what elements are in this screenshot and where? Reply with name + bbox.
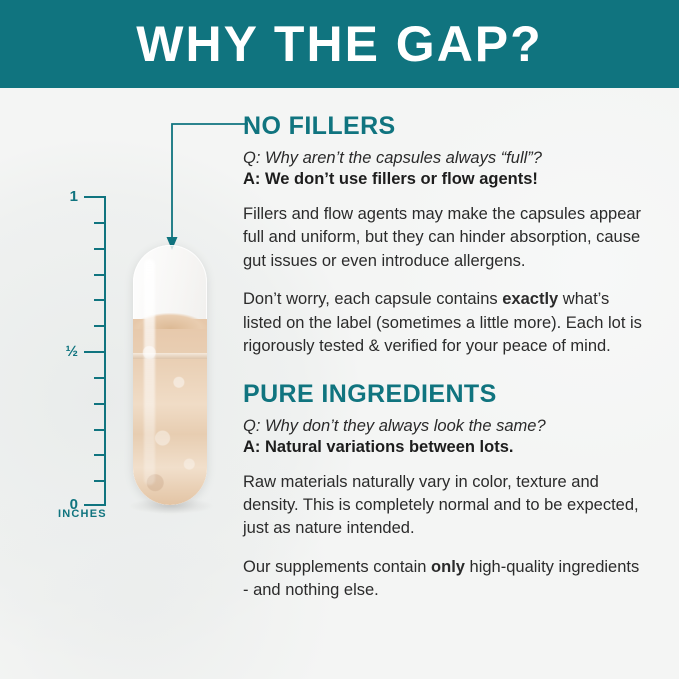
- capsule-image: [133, 245, 207, 505]
- paragraph-pure-ingredients-2-pre: Our supplements contain: [243, 558, 431, 576]
- paragraph-no-fillers-2-pre: Don’t worry, each capsule contains: [243, 290, 502, 308]
- capsule-gloss-highlight: [144, 259, 155, 485]
- content-column: NO FILLERS Q: Why aren’t the capsules al…: [243, 112, 648, 618]
- question-pure-ingredients: Q: Why don’t they always look the same?: [243, 417, 648, 436]
- paragraph-no-fillers-2-emphasis: exactly: [502, 290, 558, 308]
- ruler-tick-minor: [94, 248, 106, 250]
- paragraph-no-fillers-1: Fillers and flow agents may make the cap…: [243, 203, 648, 273]
- ruler-tick-minor: [94, 454, 106, 456]
- paragraph-pure-ingredients-2-emphasis: only: [431, 558, 465, 576]
- page-title: WHY THE GAP?: [0, 0, 679, 88]
- ruler-label-half: ½: [65, 344, 78, 359]
- ruler-tick-minor: [94, 377, 106, 379]
- section-heading-no-fillers: NO FILLERS: [243, 112, 648, 141]
- question-no-fillers: Q: Why aren’t the capsules always “full”…: [243, 149, 648, 168]
- ruler-tick-minor: [94, 299, 106, 301]
- paragraph-no-fillers-2: Don’t worry, each capsule contains exact…: [243, 288, 648, 358]
- capsule-body: [133, 245, 207, 505]
- ruler-scale: 1 ½ 0 INCHES: [58, 196, 118, 506]
- pointer-arrow-icon: [160, 120, 250, 255]
- infographic-page: WHY THE GAP? 1 ½ 0 INCHES: [0, 0, 679, 679]
- header-banner: WHY THE GAP?: [0, 0, 679, 88]
- answer-no-fillers: A: We don’t use fillers or flow agents!: [243, 170, 648, 189]
- section-heading-pure-ingredients: PURE INGREDIENTS: [243, 380, 648, 409]
- ruler-tick-major: [84, 351, 106, 353]
- ruler-tick-minor: [94, 222, 106, 224]
- ruler-tick-minor: [94, 480, 106, 482]
- ruler-tick-minor: [94, 429, 106, 431]
- ruler-tick-minor: [94, 325, 106, 327]
- ruler-tick-minor: [94, 274, 106, 276]
- ruler-tick-major: [84, 504, 106, 506]
- answer-pure-ingredients: A: Natural variations between lots.: [243, 438, 648, 457]
- ruler-label-1: 1: [70, 189, 78, 204]
- ruler-unit-label: INCHES: [58, 508, 107, 520]
- paragraph-pure-ingredients-2: Our supplements contain only high-qualit…: [243, 556, 648, 603]
- ruler-tick-minor: [94, 403, 106, 405]
- ruler-tick-major: [84, 196, 106, 198]
- paragraph-pure-ingredients-1: Raw materials naturally vary in color, t…: [243, 471, 648, 541]
